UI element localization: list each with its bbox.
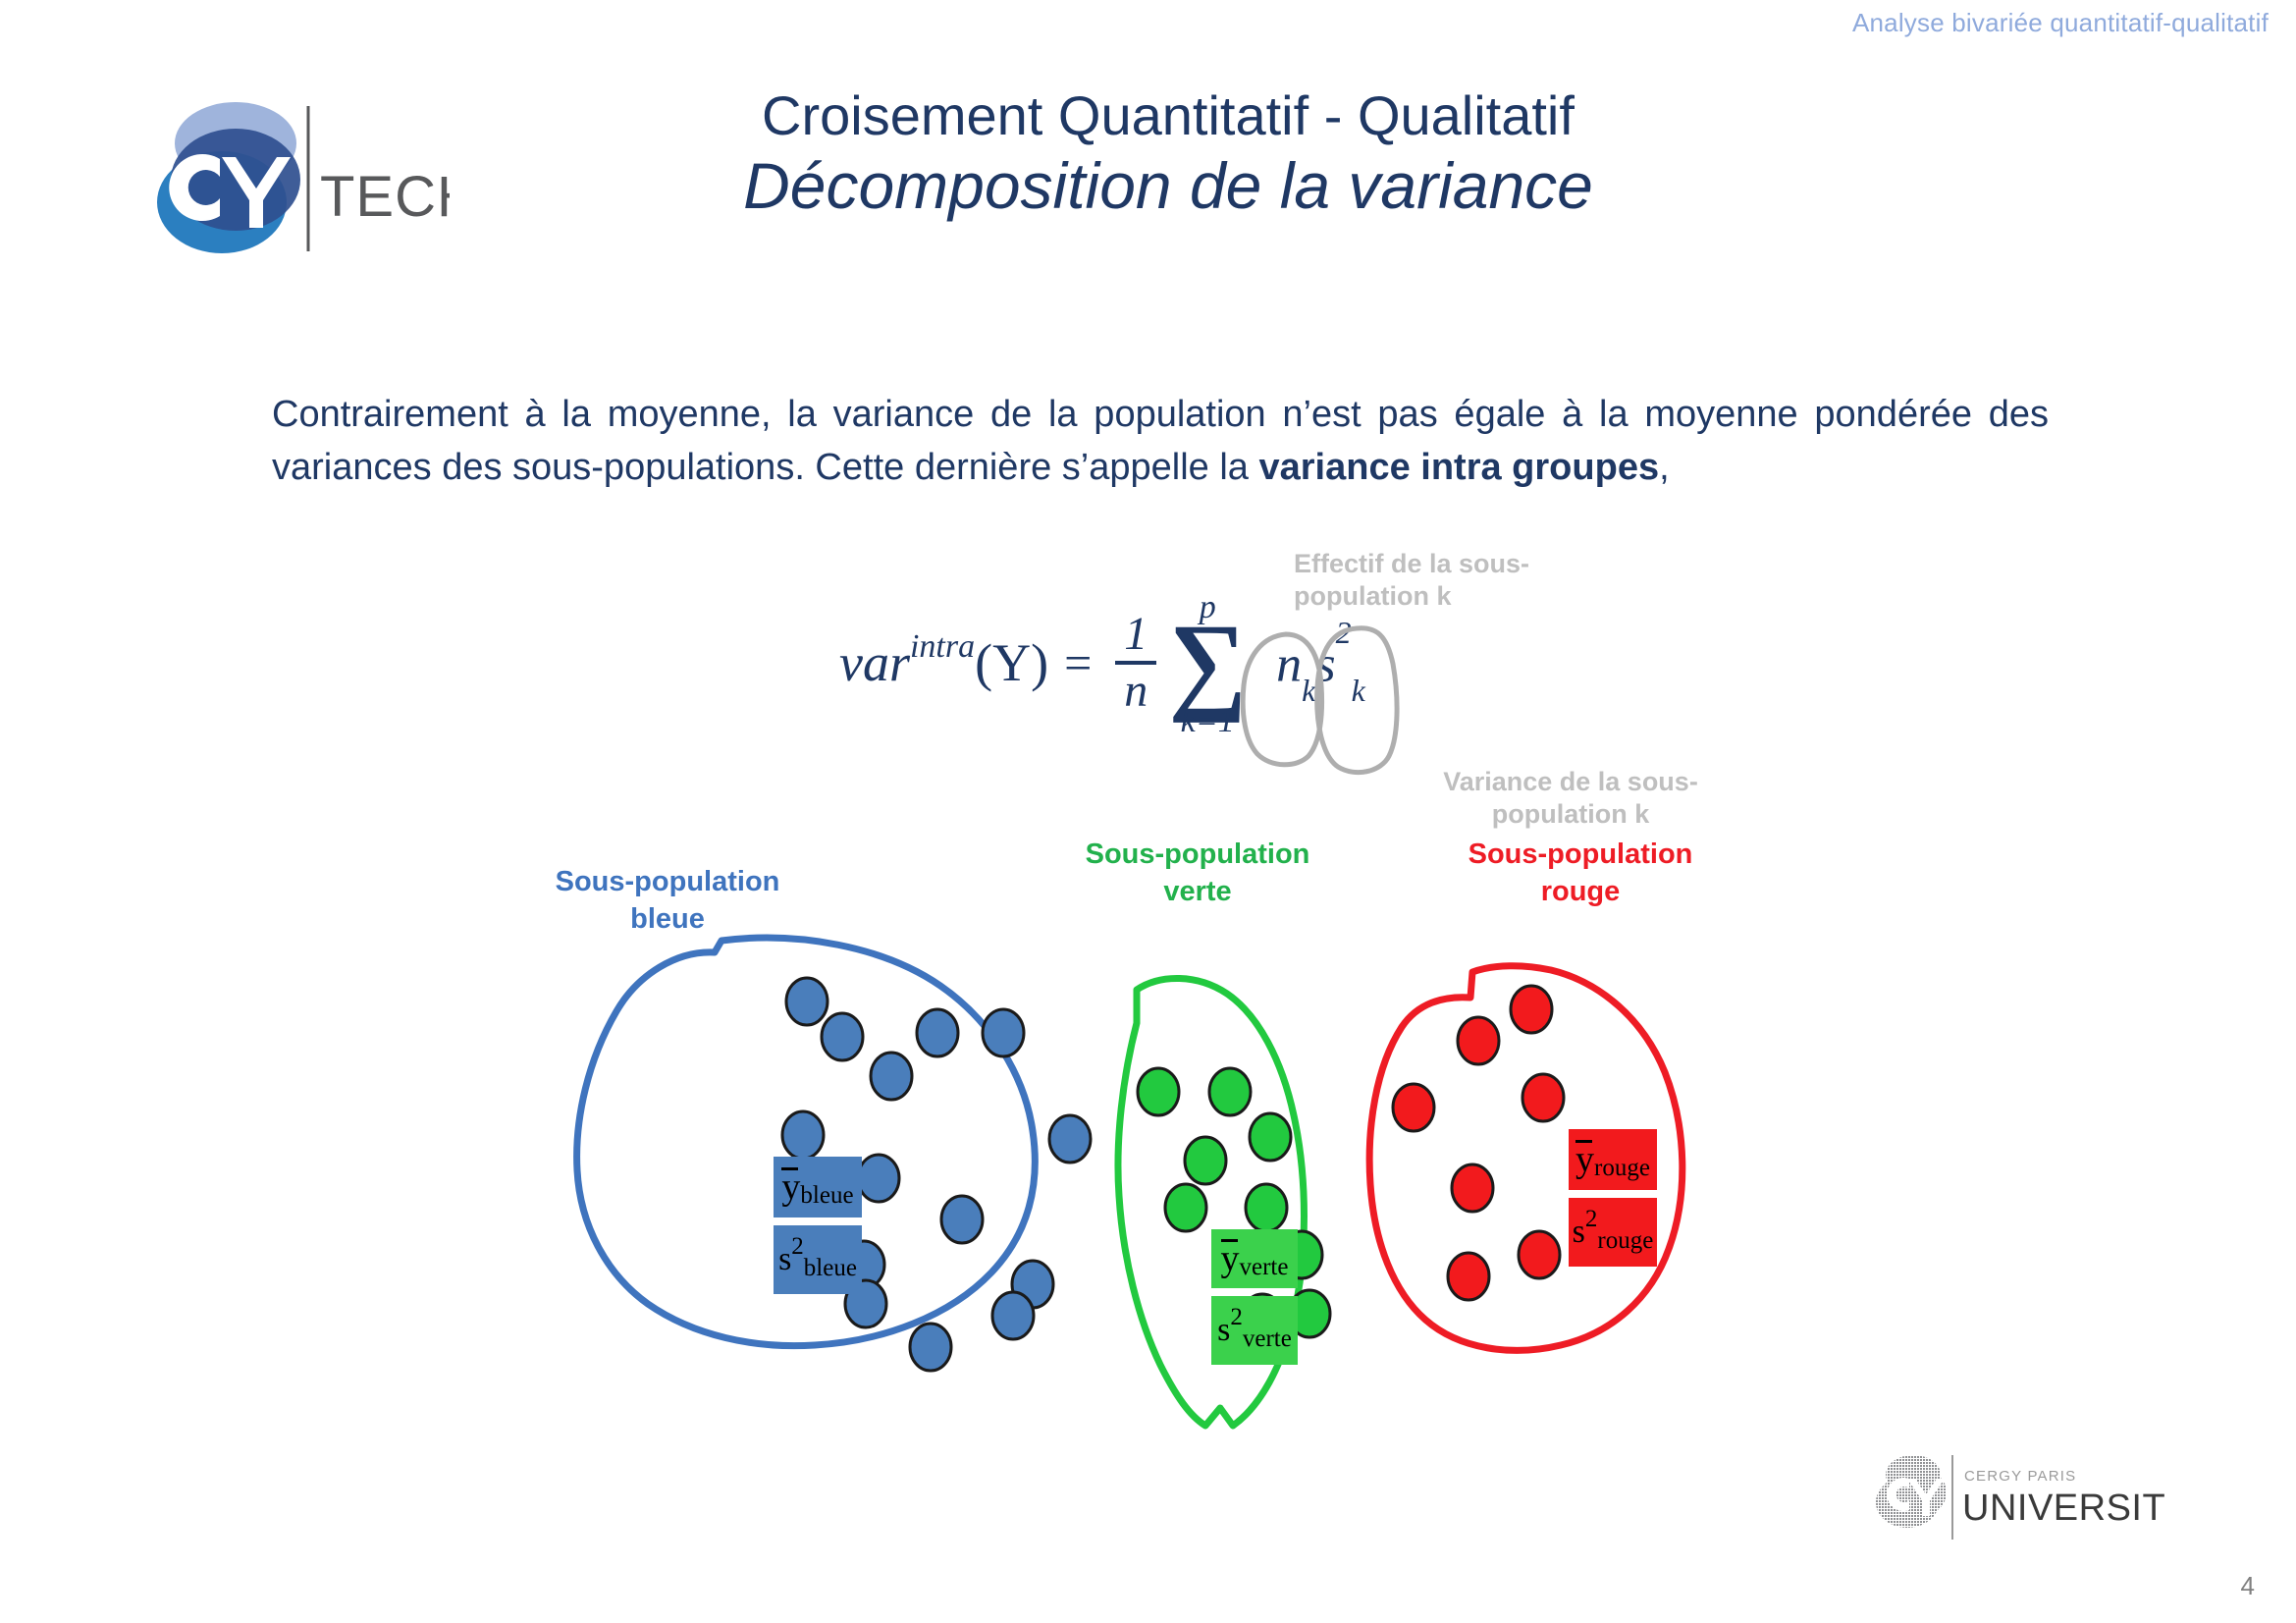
var-superscript: 2 (1585, 1206, 1598, 1233)
cluster-bleue-var-label: s2bleue (774, 1225, 862, 1294)
formula-exponent: intra (910, 628, 975, 666)
formula-fraction: 1 n (1115, 611, 1156, 715)
formula-equals: = (1064, 634, 1092, 691)
cluster-rouge-dots (1393, 986, 1564, 1300)
mean-subscript: bleue (800, 1182, 853, 1210)
cluster-verte-var-label: s2verte (1211, 1296, 1298, 1365)
formula-sum-lower: k=1 (1181, 705, 1235, 738)
body-emphasis-intra: intra groupes (1420, 447, 1659, 488)
cluster-bleue-mean-label: ybleue (774, 1157, 862, 1217)
annotation-variance: Variance de la sous-population k (1428, 766, 1713, 831)
header-note: Analyse bivariée quantitatif-qualitatif (1852, 8, 2269, 38)
formula-term-n-sub: k (1302, 673, 1315, 708)
var-symbol: s (1573, 1214, 1585, 1251)
formula-summation: p ∑ k=1 (1168, 591, 1247, 738)
var-superscript: 2 (1230, 1304, 1243, 1331)
cergy-paris-universite-logo: CERGY PARIS UNIVERSITÉ (1870, 1441, 2164, 1549)
clusters-svg (0, 884, 2296, 1434)
cluster-label-bleue: Sous-population bleue (550, 864, 785, 938)
annotation-effectif: Effectif de la sous-population k (1294, 548, 1539, 613)
var-superscript: 2 (791, 1233, 804, 1261)
formula-summand: nks2k (1276, 634, 1365, 700)
page-number: 4 (2241, 1571, 2255, 1601)
body-line-1: Contrairement à la moyenne, la variance … (272, 394, 1798, 435)
cluster-rouge-mean-label: yrouge (1569, 1129, 1657, 1190)
formula-denominator: n (1124, 665, 1148, 715)
cluster-verte-mean-label: yverte (1211, 1229, 1298, 1288)
mean-subscript: rouge (1594, 1155, 1650, 1182)
clusters-diagram: Sous-population bleue Sous-population ve… (0, 884, 2296, 1434)
var-symbol: s (1217, 1312, 1230, 1349)
svg-text:TECH: TECH (320, 165, 450, 229)
mean-subscript: verte (1240, 1254, 1289, 1281)
cluster-rouge-var-label: s2rouge (1569, 1198, 1657, 1267)
page-subtitle: Décomposition de la variance (471, 150, 1865, 223)
cytech-logo-svg: TECH (126, 86, 450, 258)
body-emphasis-variance: variance (1258, 447, 1410, 488)
cytech-logo: TECH (126, 86, 450, 258)
mean-symbol: y (1575, 1138, 1594, 1181)
var-symbol: s (778, 1241, 791, 1278)
cluster-label-verte: Sous-population verte (1080, 837, 1315, 910)
cpu-logo-line1: CERGY PARIS (1964, 1468, 2076, 1485)
body-paragraph: Contrairement à la moyenne, la variance … (272, 389, 2049, 495)
slide: Analyse bivariée quantitatif-qualitatif … (0, 0, 2296, 1623)
formula-term-s: s (1315, 636, 1335, 692)
mean-symbol: y (1221, 1237, 1240, 1280)
page-title: Croisement Quantitatif - Qualitatif (471, 86, 1865, 144)
var-subscript: bleue (804, 1255, 857, 1282)
formula-term-s-sup: 2 (1336, 615, 1352, 650)
body-line-3a: , (1659, 447, 1670, 488)
sigma-icon: ∑ (1168, 619, 1247, 709)
cpu-logo-svg: CERGY PARIS UNIVERSITÉ (1870, 1441, 2164, 1549)
var-subscript: verte (1243, 1325, 1292, 1353)
cpu-logo-line2: UNIVERSITÉ (1962, 1487, 2164, 1529)
formula-var-symbol: var (839, 632, 910, 693)
formula-expression: varintra (Y) = 1 n p ∑ k=1 nks2k (839, 589, 1365, 736)
title-block: Croisement Quantitatif - Qualitatif Déco… (471, 86, 1865, 223)
formula-term-s-sub: k (1352, 673, 1365, 708)
formula-term-n: n (1276, 636, 1302, 692)
mean-symbol: y (781, 1165, 800, 1209)
cluster-bleue (577, 938, 1091, 1371)
var-subscript: rouge (1597, 1227, 1653, 1255)
formula-argument: (Y) (975, 632, 1048, 693)
variance-formula: varintra (Y) = 1 n p ∑ k=1 nks2k (839, 589, 1507, 776)
cluster-label-rouge: Sous-population rouge (1463, 837, 1698, 910)
formula-numerator: 1 (1124, 611, 1148, 661)
